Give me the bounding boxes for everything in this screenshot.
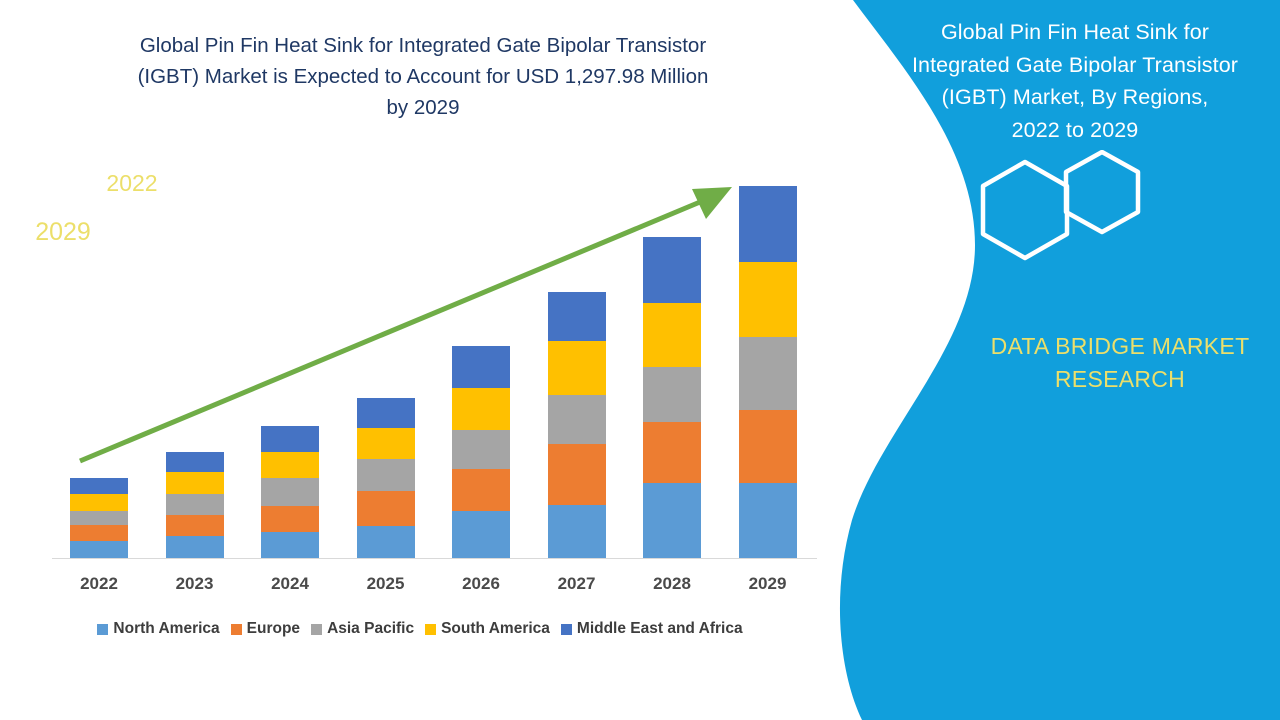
bar-segment-middle-east-and-africa [452, 346, 510, 388]
x-axis-label-2023: 2023 [147, 574, 243, 594]
bar-2022 [70, 478, 128, 558]
legend-swatch-icon [561, 624, 572, 635]
bar-segment-middle-east-and-africa [70, 478, 128, 494]
legend-item-north-america[interactable]: North America [97, 620, 219, 638]
legend-swatch-icon [97, 624, 108, 635]
bar-segment-middle-east-and-africa [739, 186, 797, 262]
x-axis-labels: 20222023202420252026202720282029 [0, 574, 840, 602]
legend-item-asia-pacific[interactable]: Asia Pacific [311, 620, 414, 638]
legend-label: Middle East and Africa [577, 620, 743, 638]
panel-title: Global Pin Fin Heat Sink for Integrated … [905, 16, 1245, 147]
bar-segment-middle-east-and-africa [548, 292, 606, 341]
bar-segment-asia-pacific [739, 337, 797, 410]
bar-segment-north-america [261, 532, 319, 558]
bar-group [0, 0, 840, 570]
bar-segment-north-america [739, 483, 797, 558]
bar-segment-north-america [357, 526, 415, 558]
x-axis-line [52, 558, 817, 559]
bar-segment-europe [643, 422, 701, 483]
bar-2028 [643, 237, 701, 558]
legend-item-middle-east-and-africa[interactable]: Middle East and Africa [561, 620, 743, 638]
bar-2026 [452, 346, 510, 558]
bar-segment-south-america [643, 303, 701, 367]
bar-segment-middle-east-and-africa [166, 452, 224, 472]
x-axis-label-2027: 2027 [529, 574, 625, 594]
bar-segment-asia-pacific [643, 367, 701, 422]
bar-segment-south-america [357, 428, 415, 459]
bar-segment-asia-pacific [261, 478, 319, 506]
bar-segment-middle-east-and-africa [261, 426, 319, 452]
brand-name: DATA BRIDGE MARKET RESEARCH [960, 330, 1280, 395]
legend-swatch-icon [425, 624, 436, 635]
brand-line-1: DATA BRIDGE MARKET [960, 330, 1280, 363]
legend-item-europe[interactable]: Europe [231, 620, 300, 638]
panel-title-line-2: Integrated Gate Bipolar Transistor [905, 49, 1245, 82]
x-axis-label-2025: 2025 [338, 574, 434, 594]
bar-segment-south-america [261, 452, 319, 478]
legend-swatch-icon [311, 624, 322, 635]
hexagon-2029-icon [983, 162, 1067, 258]
bar-segment-north-america [548, 505, 606, 558]
bar-segment-europe [166, 515, 224, 536]
bar-segment-asia-pacific [452, 430, 510, 469]
bar-2027 [548, 292, 606, 558]
panel-title-line-3: (IGBT) Market, By Regions, [905, 81, 1245, 114]
bar-segment-south-america [452, 388, 510, 430]
bar-segment-north-america [452, 511, 510, 558]
bar-segment-asia-pacific [357, 459, 415, 491]
infographic-root: Global Pin Fin Heat Sink for Integrated … [0, 0, 1280, 720]
bar-2023 [166, 452, 224, 558]
bar-segment-asia-pacific [70, 511, 128, 525]
x-axis-label-2024: 2024 [242, 574, 338, 594]
bar-segment-middle-east-and-africa [357, 398, 415, 428]
legend-label: North America [113, 620, 219, 638]
bar-segment-south-america [548, 341, 606, 395]
bar-segment-south-america [739, 262, 797, 337]
bar-segment-south-america [70, 494, 128, 511]
chart-legend: North AmericaEuropeAsia PacificSouth Ame… [0, 616, 840, 642]
bar-segment-europe [452, 469, 510, 511]
bar-segment-north-america [70, 541, 128, 558]
legend-label: South America [441, 620, 550, 638]
bar-2029 [739, 186, 797, 558]
hexagon-group [975, 150, 1185, 280]
brand-line-2: RESEARCH [960, 363, 1280, 396]
bar-segment-north-america [166, 536, 224, 558]
x-axis-label-2022: 2022 [51, 574, 147, 594]
bar-2024 [261, 426, 319, 558]
legend-label: Europe [247, 620, 300, 638]
legend-label: Asia Pacific [327, 620, 414, 638]
legend-item-south-america[interactable]: South America [425, 620, 550, 638]
panel-title-line-1: Global Pin Fin Heat Sink for [905, 16, 1245, 49]
bar-segment-north-america [643, 483, 701, 558]
panel-title-line-4: 2022 to 2029 [905, 114, 1245, 147]
bar-segment-south-america [166, 472, 224, 494]
bar-segment-europe [261, 506, 319, 532]
bar-segment-europe [357, 491, 415, 526]
x-axis-label-2026: 2026 [433, 574, 529, 594]
hexagon-2022-icon [1066, 152, 1138, 232]
bar-segment-middle-east-and-africa [643, 237, 701, 303]
bar-2025 [357, 398, 415, 558]
bar-segment-asia-pacific [548, 395, 606, 444]
legend-swatch-icon [231, 624, 242, 635]
bar-segment-europe [70, 525, 128, 541]
bar-segment-europe [548, 444, 606, 505]
bar-segment-europe [739, 410, 797, 483]
x-axis-label-2029: 2029 [720, 574, 816, 594]
chart-plot-area: 20222023202420252026202720282029 North A… [0, 0, 840, 600]
x-axis-label-2028: 2028 [624, 574, 720, 594]
bar-segment-asia-pacific [166, 494, 224, 515]
